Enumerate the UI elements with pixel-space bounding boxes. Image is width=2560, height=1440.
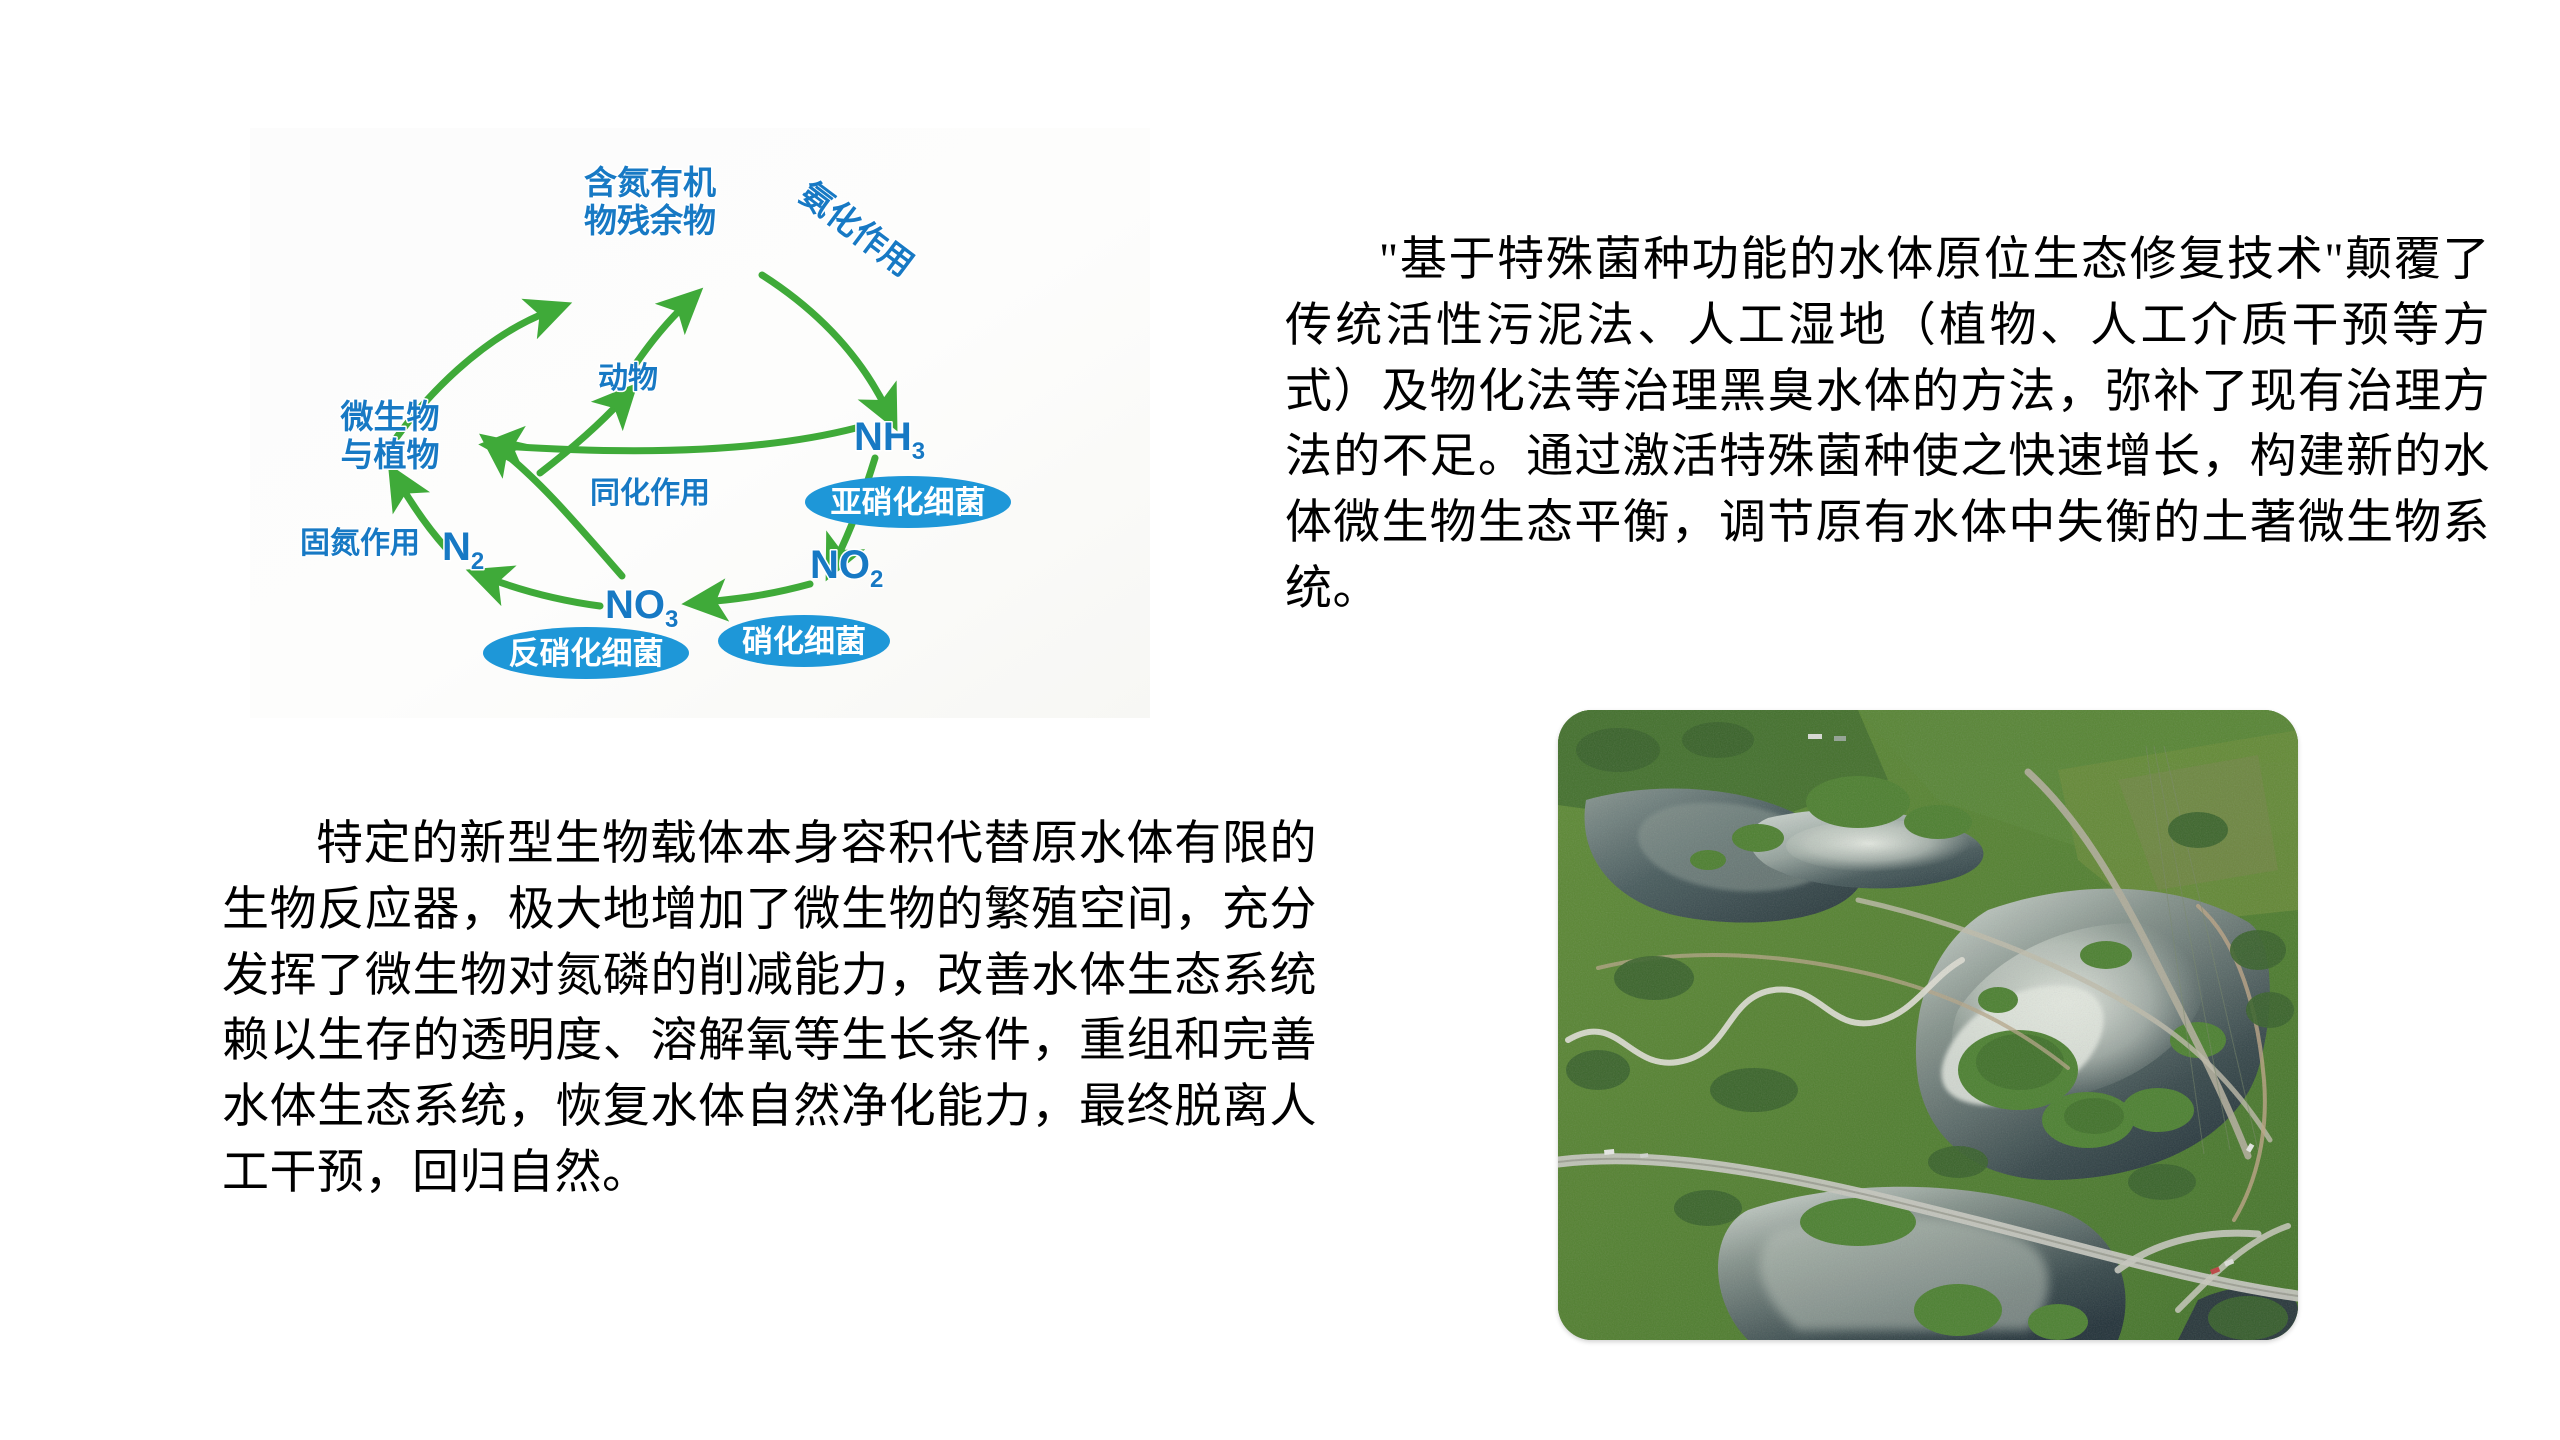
slide-root: 亚硝化细菌 硝化细菌 反硝化细菌 含氮有机 物残余物 动物 氨化作用 微生物 与…	[0, 0, 2560, 1440]
bio-carrier-paragraph: 特定的新型生物载体本身容积代替原水体有限的生物反应器，极大地增加了微生物的繁殖空…	[222, 812, 1317, 1207]
label-microbes-line2: 与植物	[341, 435, 440, 474]
aerial-wetland-photograph	[1558, 710, 2298, 1340]
label-nitrogen-fixation: 固氮作用	[300, 526, 420, 561]
pill-denitrifying-bacteria: 反硝化细菌	[483, 627, 689, 679]
technology-overview-paragraph: "基于特殊菌种功能的水体原位生态修复技术"颠覆了传统活性污泥法、人工湿地（植物、…	[1285, 228, 2490, 623]
technology-overview-text: "基于特殊菌种功能的水体原位生态修复技术"颠覆了传统活性污泥法、人工湿地（植物、…	[1285, 228, 2490, 623]
bio-carrier-text: 特定的新型生物载体本身容积代替原水体有限的生物反应器，极大地增加了微生物的繁殖空…	[222, 812, 1317, 1207]
pill-label-denitrifying: 反硝化细菌	[509, 636, 664, 672]
nitrogen-cycle-diagram: 亚硝化细菌 硝化细菌 反硝化细菌 含氮有机 物残余物 动物 氨化作用 微生物 与…	[250, 128, 1150, 718]
label-animals: 动物	[598, 361, 658, 396]
pill-nitrifying-bacteria: 硝化细菌	[718, 615, 890, 667]
pill-label-nitrosifying: 亚硝化细菌	[831, 485, 986, 521]
label-organic-residue-line1: 含氮有机	[584, 163, 716, 202]
label-microbes-line1: 微生物	[340, 397, 440, 436]
label-organic-residue-line2: 物残余物	[584, 201, 716, 240]
pill-label-nitrifying: 硝化细菌	[742, 624, 866, 660]
pill-nitrosifying-bacteria: 亚硝化细菌	[805, 476, 1011, 528]
label-assimilation: 同化作用	[590, 476, 710, 511]
